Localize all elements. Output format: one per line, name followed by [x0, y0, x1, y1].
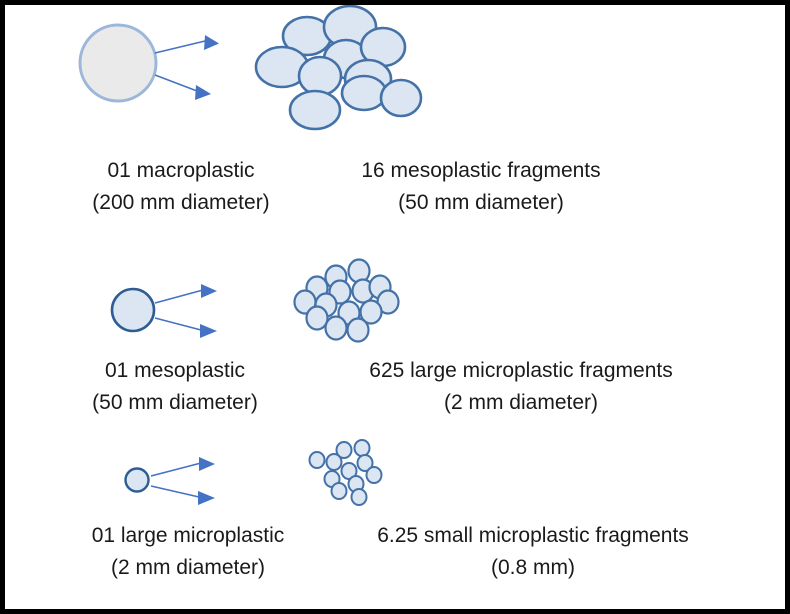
- caption-product-mesoplastic: 16 mesoplastic fragments (50 mm diameter…: [305, 155, 657, 219]
- fragmentation-arrow-lower-shaft: [155, 75, 197, 91]
- fragmentation-arrow-upper-shaft: [151, 463, 201, 476]
- fragmentation-arrow-lower-head: [195, 85, 211, 100]
- caption-size-line: (2 mm diameter): [57, 552, 319, 584]
- row-1-graphic: [5, 5, 790, 145]
- fragmentation-row-large-micro-to-small-micro: 01 large microplastic (2 mm diameter) 6.…: [5, 435, 790, 614]
- caption-size-line: (50 mm diameter): [51, 387, 299, 419]
- caption-count-line: 01 macroplastic: [107, 159, 254, 182]
- caption-source-macroplastic: 01 macroplastic (200 mm diameter): [57, 155, 305, 219]
- caption-product-small-microplastic: 6.25 small microplastic fragments (0.8 m…: [317, 520, 749, 584]
- caption-size-line: (2 mm diameter): [301, 387, 741, 419]
- caption-size-line: (0.8 mm): [317, 552, 749, 584]
- figure-frame: 01 macroplastic (200 mm diameter) 16 mes…: [0, 0, 790, 614]
- fragment-particle: [326, 317, 347, 340]
- fragmentation-arrow-lower-shaft: [151, 486, 199, 497]
- fragment-particle: [342, 76, 386, 110]
- caption-count-line: 01 mesoplastic: [105, 359, 245, 382]
- source-particle-large-microplastic: [126, 469, 149, 492]
- fragment-particle: [327, 454, 342, 470]
- caption-product-large-microplastic: 625 large microplastic fragments (2 mm d…: [301, 355, 741, 419]
- fragment-particle: [348, 319, 369, 342]
- fragment-cluster-small-microplastic: [310, 440, 382, 505]
- fragmentation-arrow-group: [155, 284, 217, 338]
- fragment-particle: [299, 57, 341, 95]
- caption-count-line: 01 large microplastic: [92, 524, 285, 547]
- fragment-particle: [307, 307, 328, 330]
- fragmentation-arrow-group: [151, 457, 215, 505]
- fragment-cluster-mesoplastic: [256, 6, 421, 129]
- caption-count-line: 625 large microplastic fragments: [369, 359, 672, 382]
- fragment-particle: [381, 80, 421, 116]
- fragmentation-arrow-upper-shaft: [155, 41, 205, 53]
- caption-source-mesoplastic: 01 mesoplastic (50 mm diameter): [51, 355, 299, 419]
- source-particle-mesoplastic: [112, 289, 154, 331]
- caption-count-line: 16 mesoplastic fragments: [361, 159, 600, 182]
- fragment-particle: [332, 483, 347, 499]
- caption-size-line: (50 mm diameter): [305, 187, 657, 219]
- fragmentation-arrow-lower-head: [198, 491, 215, 505]
- fragment-particle: [355, 440, 370, 456]
- row-2-graphic: [5, 250, 790, 350]
- fragmentation-arrow-lower-head: [200, 324, 217, 338]
- fragmentation-arrow-lower-shaft: [155, 318, 201, 330]
- fragmentation-row-macro-to-meso: 01 macroplastic (200 mm diameter) 16 mes…: [5, 5, 790, 245]
- caption-source-large-microplastic: 01 large microplastic (2 mm diameter): [57, 520, 319, 584]
- fragmentation-arrow-upper-shaft: [155, 290, 203, 303]
- fragment-particle: [367, 467, 382, 483]
- source-particle-macroplastic: [80, 25, 156, 101]
- fragment-particle: [310, 452, 325, 468]
- fragmentation-arrow-upper-head: [199, 457, 215, 471]
- caption-size-line: (200 mm diameter): [57, 187, 305, 219]
- fragment-cluster-large-microplastic: [295, 260, 399, 342]
- fragmentation-arrow-upper-head: [201, 284, 217, 298]
- fragmentation-row-meso-to-large-micro: 01 mesoplastic (50 mm diameter) 625 larg…: [5, 250, 790, 430]
- row-3-graphic: [5, 435, 790, 515]
- fragmentation-arrow-upper-head: [204, 35, 219, 50]
- fragment-particle: [352, 489, 367, 505]
- fragment-particle: [290, 91, 340, 129]
- caption-count-line: 6.25 small microplastic fragments: [377, 524, 689, 547]
- fragmentation-arrow-group: [155, 35, 219, 100]
